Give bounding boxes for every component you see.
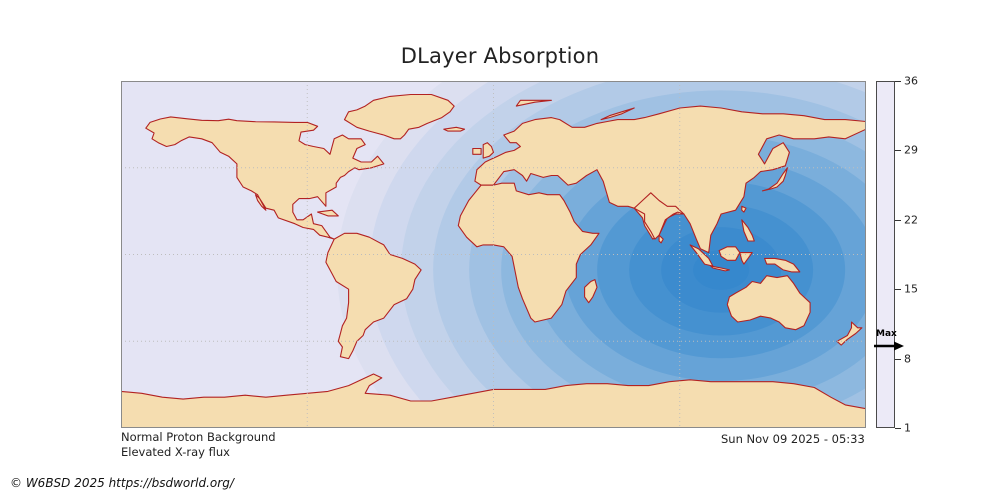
- copyright-footer: © W6BSD 2025 https://bsdworld.org/: [10, 476, 234, 490]
- max-marker-label: Max: [876, 330, 897, 339]
- map-svg: [121, 81, 866, 428]
- colorbar[interactable]: [876, 81, 895, 428]
- max-arrow-icon: [874, 341, 904, 351]
- dlayer-absorption-page: DLayer Absorption 1815222936 Affected Fr…: [0, 0, 1000, 500]
- colorbar-tick: [895, 150, 901, 151]
- colorbar-tick-label: 22: [904, 213, 918, 226]
- colorbar-tick-label: 1: [904, 422, 911, 435]
- max-marker: Max: [874, 330, 908, 354]
- world-absorption-map[interactable]: [121, 81, 866, 428]
- colorbar-tick-label: 15: [904, 283, 918, 296]
- colorbar-tick: [895, 428, 901, 429]
- landmass-ireland: [473, 149, 481, 155]
- page-title: DLayer Absorption: [0, 44, 1000, 68]
- colorbar-tick-label: 8: [904, 352, 911, 365]
- colorbar-tick: [895, 289, 901, 290]
- status-line-1: Normal Proton Background: [121, 430, 276, 445]
- status-captions: Normal Proton Background Elevated X-ray …: [121, 430, 276, 460]
- colorbar-ticks: 1815222936: [895, 81, 955, 428]
- timestamp: Sun Nov 09 2025 - 05:33: [721, 432, 865, 446]
- colorbar-gradient: [876, 81, 895, 428]
- colorbar-tick: [895, 359, 901, 360]
- colorbar-tick: [895, 220, 901, 221]
- status-line-2: Elevated X-ray flux: [121, 445, 276, 460]
- colorbar-tick: [895, 81, 901, 82]
- colorbar-tick-label: 29: [904, 144, 918, 157]
- colorbar-tick-label: 36: [904, 75, 918, 88]
